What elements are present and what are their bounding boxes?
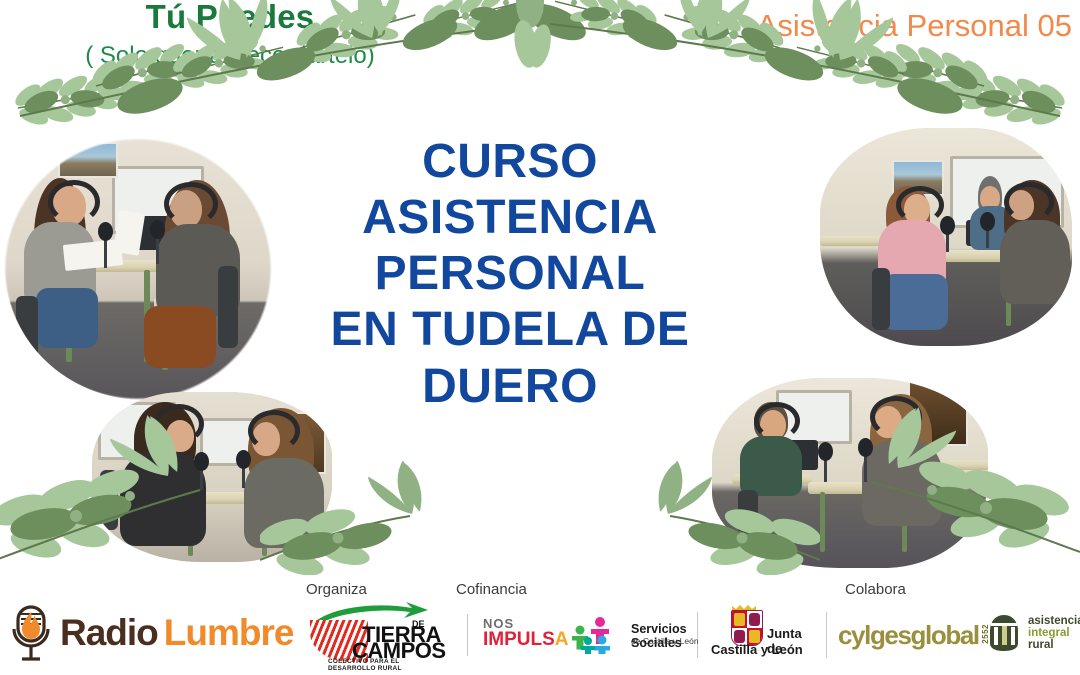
label-organiza: Organiza [306, 581, 367, 598]
label-colabora: Colabora [845, 581, 906, 598]
logo-asistencia-integral-rural[interactable]: asistencia integral rural [984, 610, 1080, 660]
photo-bottom-left [92, 392, 332, 562]
logo-tierra-tagline: COLECTIVO PARA EL DESARROLLO RURAL [328, 658, 432, 672]
pillars-emblem-icon [984, 613, 1024, 653]
logo-air-line3: rural [1028, 639, 1080, 651]
logo-servicios-sociales[interactable]: Servicios Sociales de Castilla y León [569, 614, 721, 656]
logo-air-line1: asistencia [1028, 615, 1080, 627]
title-line-5: DUERO [290, 359, 730, 415]
tagline-headline: Tú Puedes [0, 0, 460, 36]
tagline-subtitle: ( Solo quería Recordártelo) [0, 42, 460, 70]
logo-nosimpulsa-accent: A [555, 629, 569, 650]
label-cofinancia: Cofinancia [456, 581, 527, 598]
logo-cylgesglobal-name: cylgesglobal [838, 620, 979, 651]
logo-tierra-de-campos[interactable]: TIERRA DE CAMPOS COLECTIVO PARA EL DESAR… [306, 600, 432, 670]
title-line-4: EN TUDELA DE [290, 302, 730, 358]
logo-radiolumbre-part1: Radio [60, 612, 158, 654]
people-figures-icon [569, 614, 627, 654]
coat-of-arms-icon [731, 610, 763, 646]
logo-junta-line2: Castilla y León [711, 642, 803, 657]
title-line-2: ASISTENCIA [290, 190, 730, 246]
logo-nos-impulsa[interactable]: NOS IMPULSA [483, 617, 569, 649]
photo-top-right [820, 128, 1072, 346]
logo-tierra-de: DE [412, 621, 425, 628]
footer-divider-3 [826, 612, 827, 658]
logo-radiolumbre-part2: Lumbre [164, 612, 294, 654]
poster-canvas: Tú Puedes ( Solo quería Recordártelo) As… [0, 0, 1080, 675]
logo-nosimpulsa-line2: IMPULSA [483, 630, 569, 649]
footer-divider-1 [467, 614, 468, 656]
logo-air-line2: integral [1028, 627, 1080, 639]
episode-label: Asistencia Personal 05 [757, 8, 1072, 44]
title-line-3: PERSONAL [290, 246, 730, 302]
logo-servicios-line2: de Castilla y León [631, 636, 699, 646]
title-line-1: CURSO [290, 134, 730, 190]
photo-top-left [4, 138, 272, 400]
logo-radiolumbre[interactable]: RadioLumbre [8, 605, 293, 661]
logo-junta-castilla-leon[interactable]: Junta de Castilla y León [705, 604, 817, 666]
microphone-flame-icon [8, 605, 54, 661]
logo-nosimpulsa-word: IMPULS [483, 629, 555, 650]
page-title: CURSO ASISTENCIA PERSONAL EN TUDELA DE D… [290, 134, 730, 415]
photo-bottom-right [712, 378, 988, 568]
